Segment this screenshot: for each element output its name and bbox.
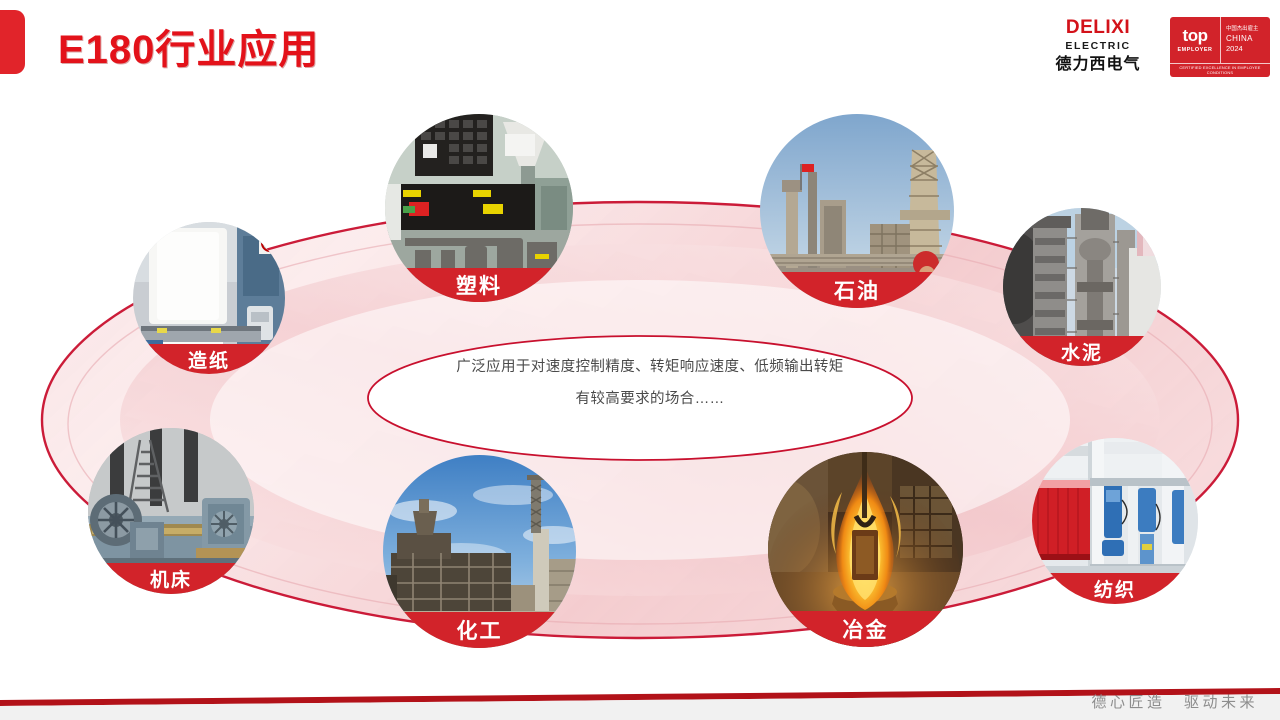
paper-industry-label: 造纸 bbox=[133, 344, 285, 374]
machine-tool-label: 机床 bbox=[88, 563, 254, 594]
center-caption-line1: 广泛应用于对速度控制精度、转矩响应速度、低频输出转矩 bbox=[400, 352, 900, 384]
industry-node-plastic[interactable]: 塑料 bbox=[385, 114, 573, 302]
industry-node-machine[interactable]: 机床 bbox=[88, 428, 254, 594]
industry-node-textile[interactable]: 纺织 bbox=[1032, 438, 1198, 604]
footer-slogan: 德心匠造 驱动未来 bbox=[1091, 691, 1258, 712]
textile-industry-label: 纺织 bbox=[1032, 573, 1198, 604]
industry-node-petroleum[interactable]: 石油 bbox=[760, 114, 954, 308]
cement-industry-label: 水泥 bbox=[1003, 336, 1161, 366]
plastic-industry-label: 塑料 bbox=[385, 268, 573, 302]
chemical-industry-label: 化工 bbox=[383, 612, 576, 648]
metallurgy-industry-label: 冶金 bbox=[768, 611, 963, 647]
industry-node-paper[interactable]: 造纸 bbox=[133, 222, 285, 374]
industry-node-cement[interactable]: 水泥 bbox=[1003, 208, 1161, 366]
center-caption: 广泛应用于对速度控制精度、转矩响应速度、低频输出转矩 有较高要求的场合…… bbox=[400, 352, 900, 416]
petroleum-industry-label: 石油 bbox=[760, 272, 954, 308]
industry-node-chemical[interactable]: 化工 bbox=[383, 455, 576, 648]
slide-canvas: E180行业应用 DELIXI ELECTRIC 德力西电气 top EMPLO… bbox=[0, 0, 1280, 720]
industry-node-metallurgy[interactable]: 冶金 bbox=[768, 452, 963, 647]
center-caption-line2: 有较高要求的场合…… bbox=[400, 384, 900, 416]
